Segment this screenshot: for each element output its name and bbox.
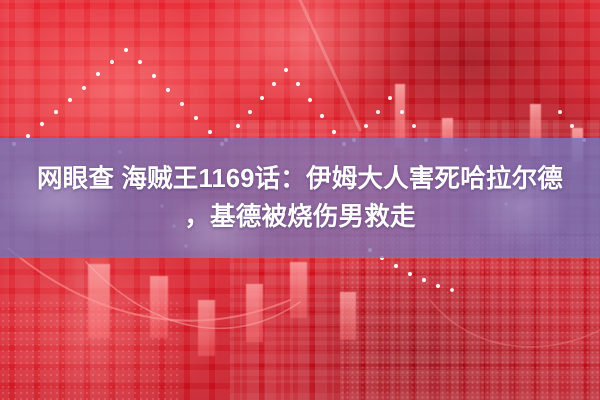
dotted-zigzag-right	[352, 96, 586, 142]
headline-block: 网眼查 海贼王1169话：伊姆大人害死哈拉尔德 ，基德被烧伤男救走	[0, 138, 600, 258]
dotted-zigzag-upper	[12, 48, 224, 146]
dotted-zigzag-mid	[224, 68, 346, 146]
thumbnail-canvas: 网眼查 海贼王1169话：伊姆大人害死哈拉尔德 ，基德被烧伤男救走	[0, 0, 600, 400]
headline-line-1: 网眼查 海贼王1169话：伊姆大人害死哈拉尔德	[37, 160, 563, 198]
headline-line-2: ，基德被烧伤男救走	[184, 198, 415, 236]
candlestick-bars-lower	[88, 262, 356, 356]
